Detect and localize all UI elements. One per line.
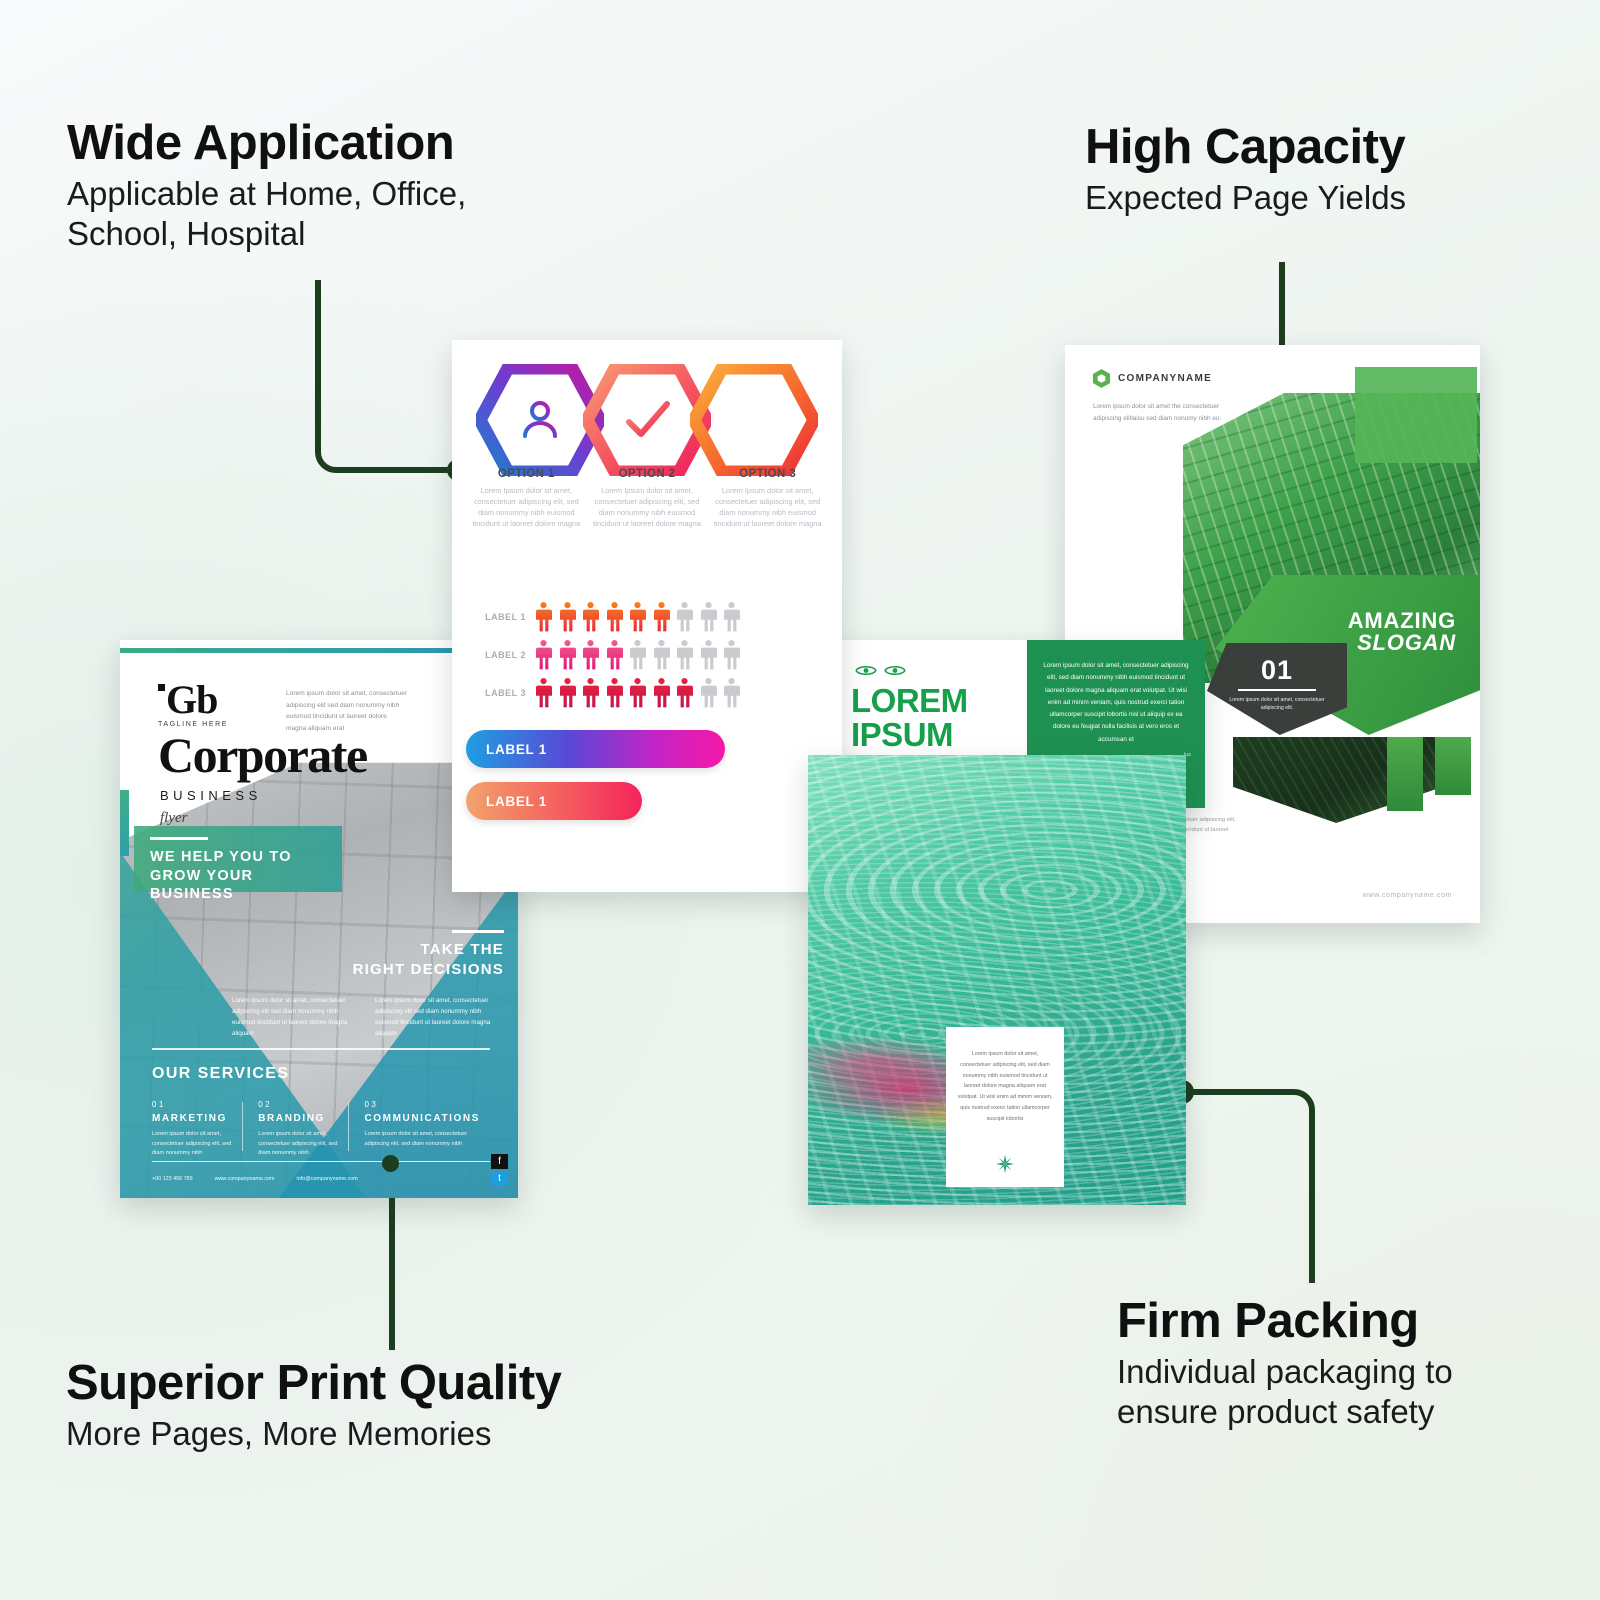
person-icon-filled: [581, 678, 600, 708]
option-column: OPTION 1 Lorem Ipsum dolor sit amet, con…: [466, 468, 587, 529]
corporate-footer: +00 123 456 789 www.companyname.com info…: [152, 1176, 490, 1182]
divider: [1238, 689, 1316, 691]
person-icon-filled: [534, 640, 553, 670]
slogan-line-1: AMAZING: [1348, 610, 1456, 632]
pictogram-row: LABEL 3: [466, 674, 828, 712]
service-item: 02 BRANDING Lorem ipsum dolor sit amet, …: [242, 1100, 348, 1159]
option-name: OPTION 3: [712, 468, 823, 480]
person-icon-empty: [699, 678, 718, 708]
service-number: 03: [364, 1100, 480, 1109]
corporate-rule-top: [152, 1048, 490, 1050]
person-icon-filled: [605, 602, 624, 632]
person-icon-filled: [605, 640, 624, 670]
option-column: OPTION 2 Lorem Ipsum dolor sit amet, con…: [587, 468, 708, 529]
person-icon-empty: [652, 640, 671, 670]
person-icon-filled: [581, 602, 600, 632]
service-item: 01 MARKETING Lorem ipsum dolor sit amet,…: [152, 1100, 242, 1159]
person-icon-filled: [628, 602, 647, 632]
pictogram-row: LABEL 2: [466, 636, 828, 674]
logo-text: Gb: [166, 677, 217, 722]
service-name: BRANDING: [258, 1113, 338, 1124]
person-icon-filled: [652, 678, 671, 708]
option-column: OPTION 3 Lorem Ipsum dolor sit amet, con…: [707, 468, 828, 529]
person-icon-filled: [581, 640, 600, 670]
corporate-headline: Corporate: [158, 730, 367, 780]
corporate-rule-bottom: [152, 1161, 490, 1163]
service-name: COMMUNICATIONS: [364, 1113, 480, 1124]
corporate-logo-mark: Gb: [158, 682, 228, 718]
footer-phone: +00 123 456 789: [152, 1176, 193, 1182]
pictogram-figures: [534, 602, 741, 632]
callout-title: Superior Print Quality: [66, 1358, 561, 1410]
gradient-bar-chart: LABEL 1 LABEL 1: [466, 730, 828, 834]
lorem-heading-line-1: LOREM: [851, 684, 968, 718]
option-labels-row: OPTION 1 Lorem Ipsum dolor sit amet, con…: [466, 468, 828, 529]
lorem-heading-line-2: IPSUM: [851, 718, 968, 752]
person-icon-filled: [558, 640, 577, 670]
corporate-col-left: Lorem ipsum dolor sit amet, consectetuer…: [232, 996, 359, 1039]
service-desc: Lorem ipsum dolor sit amet, consectetuer…: [258, 1130, 338, 1159]
option-name: OPTION 2: [592, 468, 703, 480]
infographic-canvas: Wide Application Applicable at Home, Off…: [0, 0, 1600, 1600]
corporate-side-tab: [120, 790, 129, 856]
pictogram-row-label: LABEL 1: [466, 612, 534, 622]
footer-website: www.companyname.com: [215, 1176, 275, 1182]
green-lead-text: Lorem ipsum dolor sit amet the consectet…: [1093, 401, 1225, 425]
corporate-subhead: BUSINESS: [160, 788, 262, 803]
lorem-heading: LOREM IPSUM: [851, 684, 968, 751]
hexagon-option-row: [476, 364, 818, 464]
service-number: 01: [152, 1100, 232, 1109]
green-chevron-b: [1435, 737, 1471, 795]
marble-text-card: Lorem ipsum dolor sit amet, consectetuer…: [946, 1027, 1064, 1187]
green-number-callout: 01 Lorem ipsum dolor sit amet, consectet…: [1207, 643, 1347, 735]
corporate-subhead-script: flyer: [160, 810, 188, 827]
bar-label: LABEL 1: [486, 742, 547, 757]
callout-title: Wide Application: [67, 118, 466, 170]
service-desc: Lorem ipsum dolor sit amet, consectetuer…: [364, 1130, 480, 1149]
service-desc: Lorem ipsum dolor sit amet, consectetuer…: [152, 1130, 232, 1159]
person-icon-filled: [534, 678, 553, 708]
marble-card-text: Lorem ipsum dolor sit amet, consectetuer…: [946, 1027, 1064, 1125]
slogan-line-2: SLOGAN: [1348, 632, 1456, 654]
person-icon-empty: [628, 640, 647, 670]
corporate-services-title: OUR SERVICES: [152, 1065, 289, 1083]
take-dash: [452, 930, 504, 933]
person-icon-empty: [722, 640, 741, 670]
green-number: 01: [1207, 643, 1347, 686]
hexagon-logo-icon: [1093, 369, 1110, 388]
corporate-col-right: Lorem ipsum dolor sit amet, consectetuer…: [375, 996, 502, 1039]
callout-subtitle: More Pages, More Memories: [66, 1414, 561, 1454]
corporate-social-icons[interactable]: f t: [491, 1154, 508, 1188]
green-website: www.companyname.com: [1363, 892, 1452, 899]
pictogram-chart: LABEL 1LABEL 2LABEL 3: [466, 598, 828, 712]
callout-high-capacity: High Capacity Expected Page Yields: [1085, 122, 1406, 218]
service-item: 03 COMMUNICATIONS Lorem ipsum dolor sit …: [348, 1100, 490, 1159]
corporate-services-list: 01 MARKETING Lorem ipsum dolor sit amet,…: [152, 1100, 490, 1159]
green-number-desc: Lorem ipsum dolor sit amet, consectetuer…: [1207, 696, 1347, 714]
pictogram-row-label: LABEL 2: [466, 650, 534, 660]
bar-label: LABEL 1: [486, 794, 547, 809]
eye-icons: [855, 664, 906, 677]
corporate-banner: WE HELP YOU TO GROW YOUR BUSINESS: [134, 826, 342, 892]
facebook-icon[interactable]: f: [491, 1154, 508, 1169]
green-slogan: AMAZING SLOGAN: [1348, 610, 1456, 654]
option-desc: Lorem Ipsum dolor sit amet, consectetuer…: [592, 485, 703, 529]
twitter-icon[interactable]: t: [491, 1171, 508, 1186]
bar-row: LABEL 1: [466, 730, 725, 768]
option-desc: Lorem Ipsum dolor sit amet, consectetuer…: [712, 485, 823, 529]
callout-subtitle: Expected Page Yields: [1085, 178, 1406, 218]
hexagon-option-3: [690, 364, 818, 476]
person-icon-filled: [675, 678, 694, 708]
callout-firm-packing: Firm Packing Individual packaging to ens…: [1117, 1296, 1453, 1432]
pictogram-row-label: LABEL 3: [466, 688, 534, 698]
person-icon-empty: [675, 640, 694, 670]
banner-dash: [150, 837, 208, 840]
pictogram-figures: [534, 678, 741, 708]
take-text: TAKE THE RIGHT DECISIONS: [353, 940, 504, 979]
person-icon-empty: [722, 678, 741, 708]
callout-subtitle: Individual packaging to ensure product s…: [1117, 1352, 1453, 1433]
person-icon-filled: [652, 602, 671, 632]
person-icon-filled: [558, 602, 577, 632]
service-number: 02: [258, 1100, 338, 1109]
poster-infographic[interactable]: OPTION 1 Lorem Ipsum dolor sit amet, con…: [452, 340, 842, 892]
starburst-icon: [996, 1155, 1014, 1173]
logo-square-icon: [158, 684, 165, 691]
corporate-two-column-text: Lorem ipsum dolor sit amet, consectetuer…: [232, 996, 502, 1039]
person-icon-empty: [675, 602, 694, 632]
callout-wide-application: Wide Application Applicable at Home, Off…: [67, 118, 466, 254]
pictogram-row: LABEL 1: [466, 598, 828, 636]
option-desc: Lorem Ipsum dolor sit amet, consectetuer…: [471, 485, 582, 529]
banner-text: WE HELP YOU TO GROW YOUR BUSINESS: [150, 848, 342, 904]
green-hex-accent: [1355, 367, 1477, 463]
connector-firm-packing: [1168, 1078, 1368, 1288]
person-icon-filled: [628, 678, 647, 708]
company-logo: COMPANYNAME: [1093, 369, 1212, 388]
lorem-body: Lorem ipsum dolor sit amet, consectetuer…: [1027, 640, 1205, 746]
bar-row: LABEL 1: [466, 782, 642, 820]
callout-title: High Capacity: [1085, 122, 1406, 174]
callout-superior-print-quality: Superior Print Quality More Pages, More …: [66, 1358, 561, 1454]
person-icon-empty: [722, 602, 741, 632]
person-icon-empty: [699, 602, 718, 632]
company-name: COMPANYNAME: [1118, 373, 1212, 384]
eye-icon: [855, 664, 877, 677]
footer-email: info@companyname.com: [297, 1176, 358, 1182]
poster-marble[interactable]: Lorem ipsum dolor sit amet, consectetuer…: [808, 755, 1186, 1205]
callout-title: Firm Packing: [1117, 1296, 1453, 1348]
corporate-take-block: TAKE THE RIGHT DECISIONS: [353, 930, 504, 979]
option-name: OPTION 1: [471, 468, 582, 480]
corporate-logo: Gb TAGLINE HERE: [158, 682, 228, 728]
service-name: MARKETING: [152, 1113, 232, 1124]
callout-subtitle: Applicable at Home, Office, School, Hosp…: [67, 174, 466, 255]
pictogram-figures: [534, 640, 741, 670]
person-icon-filled: [558, 678, 577, 708]
green-chevron-a: [1387, 737, 1423, 811]
person-icon-empty: [699, 640, 718, 670]
person-icon-filled: [534, 602, 553, 632]
eye-icon: [884, 664, 906, 677]
corporate-accent-dot: [382, 1155, 399, 1172]
person-icon-filled: [605, 678, 624, 708]
